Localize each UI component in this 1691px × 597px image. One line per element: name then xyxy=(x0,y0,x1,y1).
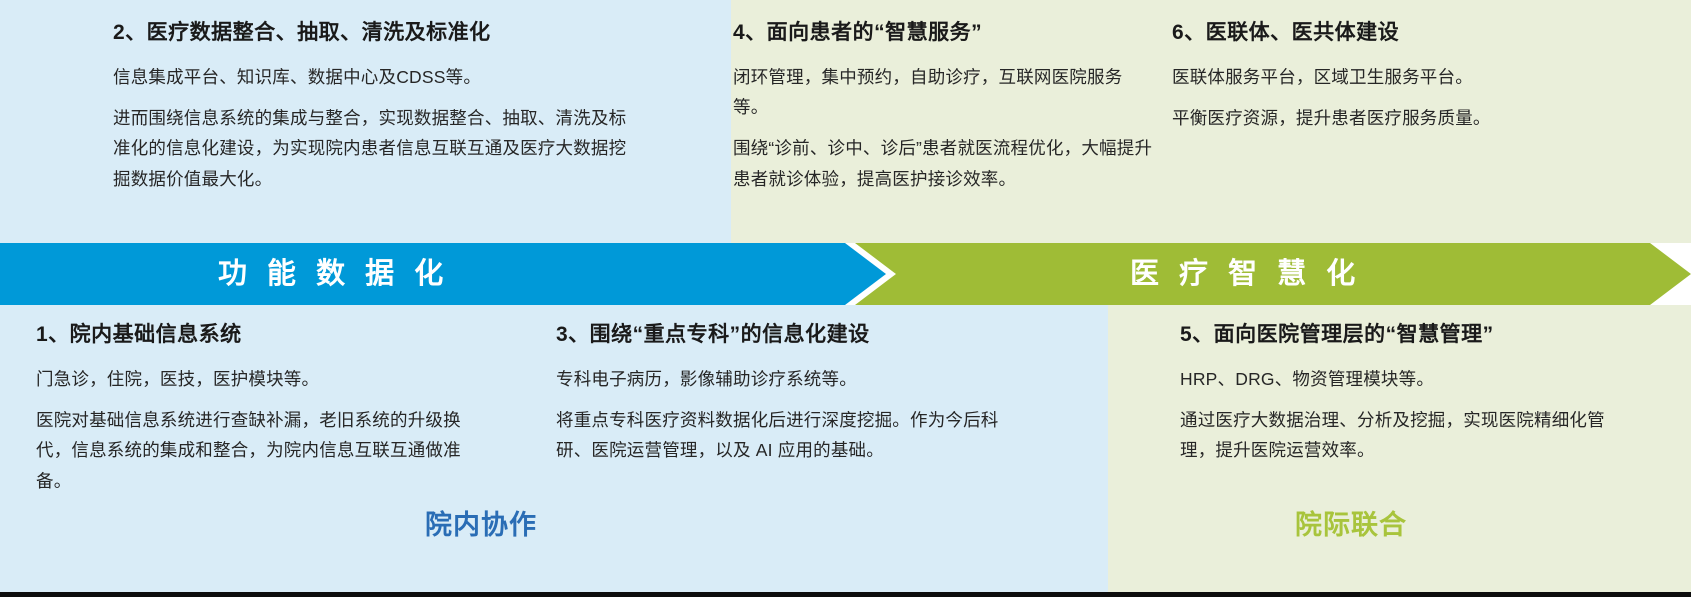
card-item-6-paragraph-2: 平衡医疗资源，提升患者医疗服务质量。 xyxy=(1172,103,1632,133)
footer-label-intra-hospital-collaboration: 院内协作 xyxy=(425,503,537,542)
card-item-3-paragraph-1: 专科电子病历，影像辅助诊疗系统等。 xyxy=(556,364,1026,394)
card-item-6-title: 6、医联体、医共体建设 xyxy=(1172,20,1632,46)
card-item-5: 5、面向医院管理层的“智慧管理” HRP、DRG、物资管理模块等。 通过医疗大数… xyxy=(1180,322,1620,466)
card-item-4-paragraph-2: 围绕“诊前、诊中、诊后”患者就医流程优化，大幅提升患者就诊体验，提高医护接诊效率… xyxy=(733,133,1153,193)
card-item-3-title: 3、围绕“重点专科”的信息化建设 xyxy=(556,322,1026,348)
card-item-5-title: 5、面向医院管理层的“智慧管理” xyxy=(1180,322,1620,348)
card-item-4-paragraph-1: 闭环管理，集中预约，自助诊疗，互联网医院服务等。 xyxy=(733,62,1153,122)
card-item-6: 6、医联体、医共体建设 医联体服务平台，区域卫生服务平台。 平衡医疗资源，提升患… xyxy=(1172,20,1632,133)
bottom-divider-rule xyxy=(0,592,1691,597)
card-item-2: 2、医疗数据整合、抽取、清洗及标准化 信息集成平台、知识库、数据中心及CDSS等… xyxy=(113,20,643,194)
card-item-2-paragraph-1: 信息集成平台、知识库、数据中心及CDSS等。 xyxy=(113,62,643,92)
card-item-4: 4、面向患者的“智慧服务” 闭环管理，集中预约，自助诊疗，互联网医院服务等。 围… xyxy=(733,20,1153,194)
card-item-1: 1、院内基础信息系统 门急诊，住院，医技，医护模块等。 医院对基础信息系统进行查… xyxy=(36,322,496,496)
card-item-1-paragraph-2: 医院对基础信息系统进行查缺补漏，老旧系统的升级换代，信息系统的集成和整合，为院内… xyxy=(36,405,496,495)
banner-label-functional-datafication: 功 能 数 据 化 xyxy=(218,243,449,305)
card-item-1-title: 1、院内基础信息系统 xyxy=(36,322,496,348)
card-item-2-title: 2、医疗数据整合、抽取、清洗及标准化 xyxy=(113,20,643,46)
banner-label-medical-intelligence: 医 疗 智 慧 化 xyxy=(1130,243,1361,305)
arrow-banner-row: 功 能 数 据 化 医 疗 智 慧 化 xyxy=(0,243,1691,305)
card-item-3: 3、围绕“重点专科”的信息化建设 专科电子病历，影像辅助诊疗系统等。 将重点专科… xyxy=(556,322,1026,466)
card-item-4-title: 4、面向患者的“智慧服务” xyxy=(733,20,1153,46)
card-item-1-paragraph-1: 门急诊，住院，医技，医护模块等。 xyxy=(36,364,496,394)
card-item-6-paragraph-1: 医联体服务平台，区域卫生服务平台。 xyxy=(1172,62,1632,92)
card-item-3-paragraph-2: 将重点专科医疗资料数据化后进行深度挖掘。作为今后科研、医院运营管理，以及 AI … xyxy=(556,405,1026,465)
card-item-5-paragraph-2: 通过医疗大数据治理、分析及挖掘，实现医院精细化管理，提升医院运营效率。 xyxy=(1180,405,1620,465)
footer-label-inter-hospital-alliance: 院际联合 xyxy=(1295,503,1407,542)
infographic-canvas: 2、医疗数据整合、抽取、清洗及标准化 信息集成平台、知识库、数据中心及CDSS等… xyxy=(0,0,1691,597)
card-item-2-paragraph-2: 进而围绕信息系统的集成与整合，实现数据整合、抽取、清洗及标准化的信息化建设，为实… xyxy=(113,103,643,193)
card-item-5-paragraph-1: HRP、DRG、物资管理模块等。 xyxy=(1180,364,1620,394)
